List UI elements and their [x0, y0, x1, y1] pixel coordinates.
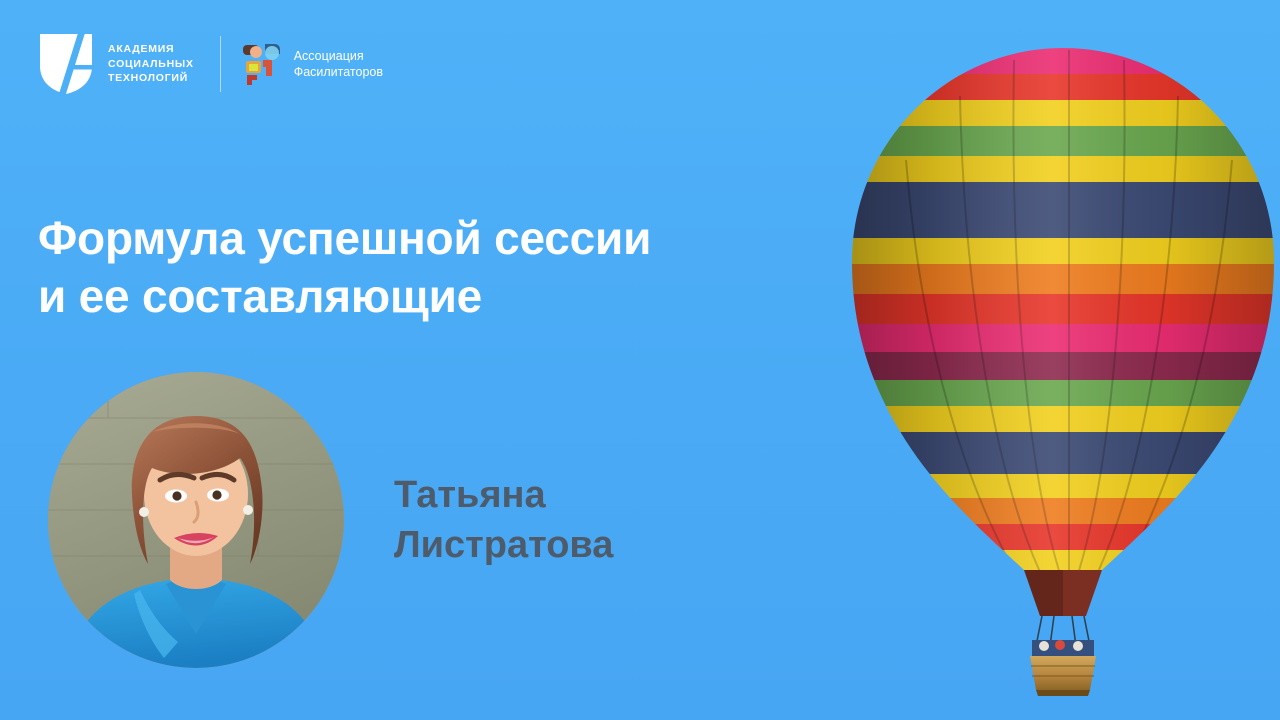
- academy-logo-text: АКАДЕМИЯ СОЦИАЛЬНЫХ ТЕХНОЛОГИЙ: [108, 42, 194, 86]
- speaker-name: Татьяна Листратова: [394, 470, 613, 570]
- logo-divider: [220, 36, 221, 92]
- association-logo-line-2: Фасилитаторов: [294, 65, 383, 79]
- page-title-line-1: Формула успешной сессии: [38, 209, 768, 267]
- speaker-first-name: Татьяна: [394, 470, 613, 520]
- speaker-last-name: Листратова: [394, 520, 613, 570]
- page-title-line-2: и ее составляющие: [38, 267, 768, 325]
- academy-logo[interactable]: АКАДЕМИЯ СОЦИАЛЬНЫХ ТЕХНОЛОГИЙ: [38, 32, 194, 96]
- avatar: [48, 372, 344, 668]
- page-title: Формула успешной сессии и ее составляющи…: [38, 209, 768, 325]
- association-logo-line-1: Ассоциация: [294, 49, 364, 63]
- shield-logo-icon: [38, 32, 94, 96]
- logo-lockup: АКАДЕМИЯ СОЦИАЛЬНЫХ ТЕХНОЛОГИЙ Ассоциаци…: [38, 30, 383, 98]
- association-logo[interactable]: Ассоциация Фасилитаторов: [243, 41, 383, 87]
- association-logo-text: Ассоциация Фасилитаторов: [294, 48, 383, 80]
- academy-logo-line-2: СОЦИАЛЬНЫХ: [108, 58, 194, 70]
- academy-logo-line-3: ТЕХНОЛОГИЙ: [108, 72, 188, 84]
- speaker-block: Татьяна Листратова: [48, 370, 708, 670]
- facilitators-people-icon: [243, 41, 283, 87]
- academy-logo-line-1: АКАДЕМИЯ: [108, 43, 174, 55]
- presentation-slide: АКАДЕМИЯ СОЦИАЛЬНЫХ ТЕХНОЛОГИЙ Ассоциаци…: [0, 0, 1280, 720]
